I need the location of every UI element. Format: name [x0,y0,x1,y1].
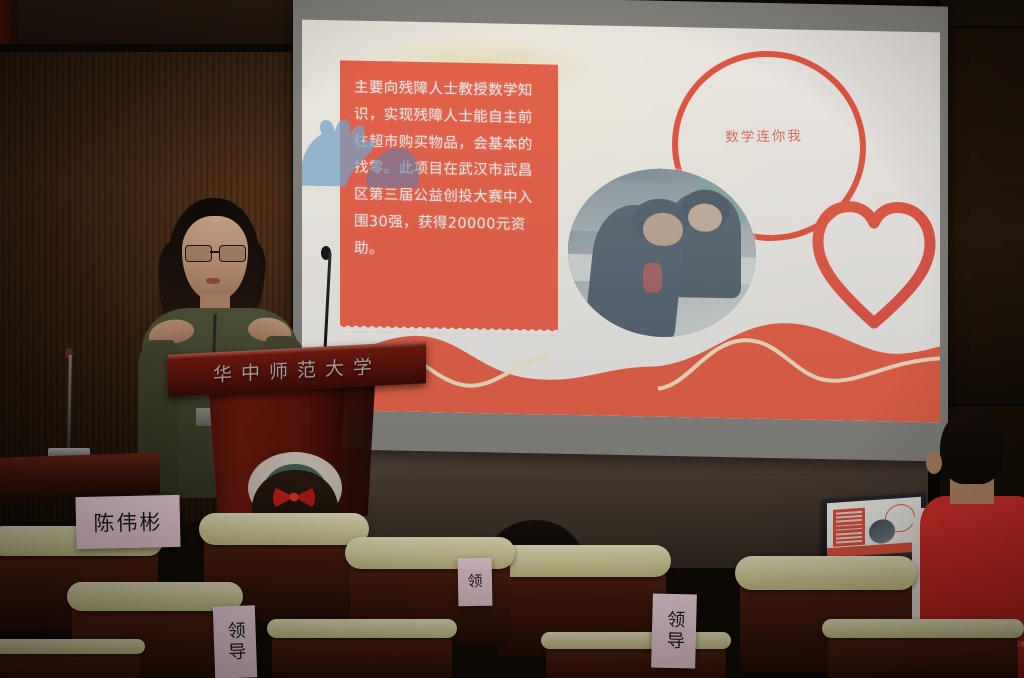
red-bow-icon [272,486,316,508]
slide-circle-caption: 数学连你我 [698,124,831,146]
name-card: 领导 [213,605,257,678]
name-card-text: 陈伟彬 [93,506,163,537]
chair[interactable] [828,628,1018,678]
name-card-text: 领导 [221,621,248,664]
speaker-mouth [206,278,220,284]
chair[interactable] [546,640,726,678]
hands-icon [302,93,422,188]
presentation-hall-scene: 主要向残障人士教授数学知识，实现残障人士能自主前往超市购买物品，会基本的找零。此… [0,0,1024,678]
volunteer-head [940,410,1004,484]
name-card-text: 领 [464,573,485,591]
right-wall-panel [946,26,1024,406]
front-desk [0,452,160,500]
chair[interactable] [0,646,140,678]
name-card: 领导 [651,593,697,668]
glasses-icon [183,245,247,260]
laptop-screen [827,497,921,559]
name-card: 领 [458,558,493,607]
chair[interactable] [272,628,452,678]
volunteer-ear [926,452,942,474]
name-card: 陈伟彬 [75,495,180,549]
name-card-text: 领导 [660,610,687,653]
